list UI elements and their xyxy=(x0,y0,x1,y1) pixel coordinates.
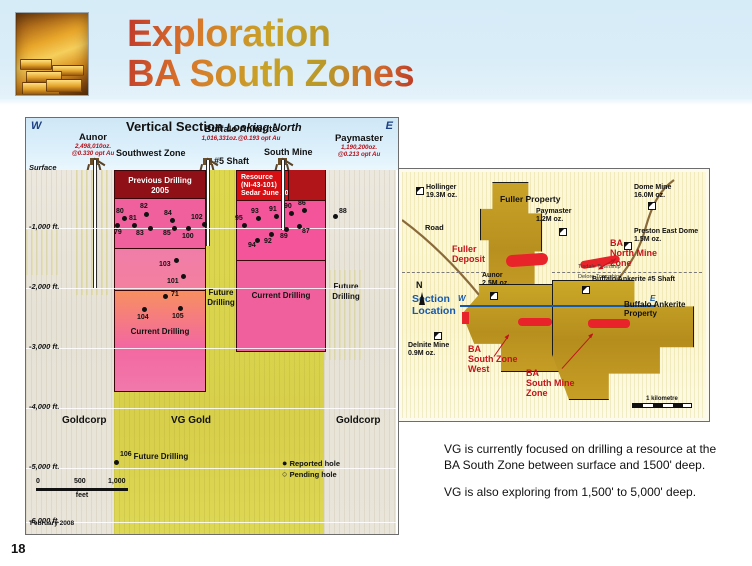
map-label-fuller-deposit: Fuller Deposit xyxy=(452,244,485,264)
drill-hole-dot xyxy=(284,227,289,232)
shaft-line-5shaft xyxy=(206,160,210,246)
map-scale-label: 1 kilometre xyxy=(632,396,692,402)
scale-tick: 1,000 xyxy=(108,478,126,485)
future-drilling-label-1: Future Drilling xyxy=(206,288,236,307)
mine-symbol-delnite xyxy=(434,332,442,340)
drill-hole-dot xyxy=(172,226,177,231)
drill-hole-label: 101 xyxy=(167,278,179,285)
drill-hole-label: 93 xyxy=(251,208,259,215)
section-west-marker-redzone xyxy=(462,312,469,324)
map-label-ba-north-mine-zone: BA North Mine Zone xyxy=(610,238,657,268)
mine-symbol-paymaster xyxy=(559,228,567,236)
drill-hole-dot xyxy=(302,208,307,213)
drill-hole-dot xyxy=(142,307,147,312)
drill-hole-dot xyxy=(132,223,137,228)
ba-south-mine-zone-redzone xyxy=(588,319,630,328)
map-label-fuller-property: Fuller Property xyxy=(500,194,560,204)
zone-label-south-mine: South Mine xyxy=(264,147,313,157)
map-label-buffalo-ankerite-property: Buffalo Ankerite Property xyxy=(624,300,706,319)
drill-hole-dot xyxy=(170,218,175,223)
block-label: Previous Drilling 2005 xyxy=(115,176,205,195)
future-drilling-label-3: Future Drilling xyxy=(126,452,196,462)
block-previous-drilling-2005: Previous Drilling 2005 xyxy=(114,170,206,200)
block-darkred-top-right xyxy=(288,170,325,200)
drill-hole-label: 82 xyxy=(140,203,148,210)
drill-hole-label: 102 xyxy=(191,214,203,221)
drill-hole-label: 106 xyxy=(120,451,132,458)
drill-hole-label: 104 xyxy=(137,314,149,321)
map-canvas: W E Tisdale Township Deloro Township Hol… xyxy=(402,172,706,418)
depth-label: -5,000 ft. xyxy=(29,462,59,471)
map-label-hollinger: Hollinger 19.3M oz. xyxy=(426,184,457,201)
depth-gridline xyxy=(26,522,398,523)
depth-gridline xyxy=(26,228,398,229)
drill-hole-dot xyxy=(274,214,279,219)
owner-label-goldcorp-east: Goldcorp xyxy=(336,415,380,426)
drill-hole-dot xyxy=(289,211,294,216)
drill-hole-label: 87 xyxy=(302,228,310,235)
ba-south-zone-west-redzone xyxy=(518,318,552,326)
north-arrow-icon: N xyxy=(416,280,425,305)
map-label-ba-south-zone-west: BA South Zone West xyxy=(468,344,518,374)
drill-hole-label: 100 xyxy=(182,233,194,240)
body-paragraph-2: VG is also exploring from 1,500' to 5,00… xyxy=(444,485,730,501)
mine-name: Buffalo Ankerite xyxy=(204,124,277,135)
mine-name: Aunor xyxy=(79,132,107,143)
drill-hole-dot xyxy=(202,222,207,227)
gold-bars-photo xyxy=(15,12,89,96)
section-date: February 2008 xyxy=(30,520,74,527)
plan-map-figure: W E Tisdale Township Deloro Township Hol… xyxy=(398,168,710,422)
depth-label: -2,000 ft. xyxy=(29,282,59,291)
future-drilling-label-2: Future Drilling xyxy=(324,282,368,301)
zone-label-southwest: Southwest Zone xyxy=(116,148,186,158)
drill-hole-label: 90 xyxy=(284,203,292,210)
owner-label-vg-gold: VG Gold xyxy=(171,415,211,426)
map-label-ba-south-mine-zone: BA South Mine Zone xyxy=(526,368,575,398)
drill-hole-dot xyxy=(148,226,153,231)
drill-hole-label: 86 xyxy=(298,200,306,207)
township-divider-line-west xyxy=(402,272,484,274)
mine-symbol-ba-5-shaft xyxy=(582,286,590,294)
section-scale-bar: 0 500 1,000 feet xyxy=(36,478,128,499)
scale-tick: 0 xyxy=(36,478,40,485)
legend-reported-hole: ● Reported hole xyxy=(282,458,340,469)
drill-hole-label: 92 xyxy=(264,238,272,245)
vertical-section-figure: W E Vertical Section Looking North Aunor… xyxy=(25,117,399,535)
drill-hole-label: 94 xyxy=(248,242,256,249)
drill-hole-dot xyxy=(163,294,168,299)
block-label: Current Drilling xyxy=(237,291,325,301)
body-paragraph-1: VG is currently focused on drilling a re… xyxy=(444,442,730,473)
map-label-paymaster: Paymaster 1.2M oz. xyxy=(536,208,571,225)
mine-name: Paymaster xyxy=(335,133,383,144)
mine-grade: 1,016,331oz.@0.193 opt Au xyxy=(176,135,306,142)
block-pink-mid-left xyxy=(114,248,206,292)
drill-hole-label: 91 xyxy=(269,206,277,213)
drill-hole-label: 81 xyxy=(129,215,137,222)
map-label-aunor: Aunor 2.5M oz. xyxy=(482,272,509,289)
drill-hole-dot xyxy=(269,232,274,237)
compass-east-label: E xyxy=(386,120,393,132)
block-current-drilling-right: Current Drilling xyxy=(236,260,326,352)
map-label-road: Road xyxy=(425,224,444,232)
owner-label-goldcorp-west: Goldcorp xyxy=(62,415,106,426)
drill-hole-dot xyxy=(186,226,191,231)
drill-hole-dot xyxy=(115,223,120,228)
drill-hole-dot xyxy=(114,460,119,465)
drill-hole-label: 88 xyxy=(339,208,347,215)
mine-label-buffalo-ankerite: Buffalo Ankerite 1,016,331oz.@0.193 opt … xyxy=(176,125,306,142)
map-label-dome-mine: Dome Mine 16.0M oz. xyxy=(634,184,671,201)
drill-hole-dot xyxy=(144,212,149,217)
drill-hole-dot xyxy=(333,214,338,219)
filled-dot-icon: ● xyxy=(282,458,287,468)
drill-hole-label: 105 xyxy=(172,313,184,320)
legend-pending-hole: ○ Pending hole xyxy=(282,469,340,480)
scale-units: feet xyxy=(36,492,128,499)
drill-hole-label: 83 xyxy=(136,230,144,237)
depth-gridline xyxy=(26,288,398,289)
page-number: 18 xyxy=(11,541,25,556)
mine-symbol-hollinger xyxy=(416,187,424,195)
map-label-delnite-mine: Delnite Mine 0.9M oz. xyxy=(408,342,449,359)
block-label: Current Drilling xyxy=(115,327,205,337)
drill-hole-label: 103 xyxy=(159,261,171,268)
open-circle-icon: ○ xyxy=(282,469,287,479)
depth-label: -3,000 ft. xyxy=(29,342,59,351)
mine-symbol-dome xyxy=(648,202,656,210)
depth-label: -4,000 ft. xyxy=(29,402,59,411)
depth-gridline xyxy=(26,348,398,349)
township-divider-line xyxy=(552,272,702,274)
body-text-block: VG is currently focused on drilling a re… xyxy=(444,442,730,513)
block-pink-upper-left xyxy=(114,198,206,250)
map-scale-bar: 1 kilometre xyxy=(632,396,692,408)
drill-hole-dot xyxy=(178,306,183,311)
drill-hole-dot xyxy=(181,274,186,279)
mine-label-paymaster: Paymaster 1,190,200oz. @0.213 opt Au xyxy=(326,134,392,158)
section-legend: ● Reported hole ○ Pending hole xyxy=(282,458,340,480)
mine-symbol-aunor xyxy=(490,292,498,300)
section-body: Previous Drilling 2005 Current Drilling … xyxy=(26,170,398,534)
shaft-line-south-mine xyxy=(281,160,285,230)
mine-grade: 1,190,200oz. @0.213 opt Au xyxy=(326,144,392,158)
drill-hole-dot xyxy=(122,216,127,221)
map-label-ba-5-shaft: Buffalo Ankerite #5 Shaft xyxy=(592,276,675,284)
scale-tick: 500 xyxy=(74,478,86,485)
west-yellow-streak-2 xyxy=(26,230,60,275)
depth-gridline xyxy=(26,408,398,409)
page-title: Exploration BA South Zones xyxy=(127,14,414,94)
drill-hole-dot xyxy=(256,216,261,221)
page-header: Exploration BA South Zones xyxy=(0,0,752,105)
drill-hole-label: 84 xyxy=(164,210,172,217)
depth-gridline xyxy=(26,468,398,469)
section-line-west-label: W xyxy=(458,294,466,303)
drill-hole-dot xyxy=(174,258,179,263)
drill-hole-label: 80 xyxy=(116,208,124,215)
block-current-drilling-left: Current Drilling xyxy=(114,290,206,392)
drill-hole-dot xyxy=(242,223,247,228)
depth-label: -1,000 ft. xyxy=(29,222,59,231)
drill-hole-label: 89 xyxy=(280,233,288,240)
shaft-line-aunor xyxy=(93,160,97,288)
drill-hole-label: 79 xyxy=(114,229,122,236)
drill-hole-label: 95 xyxy=(235,215,243,222)
drill-hole-label: 71 xyxy=(171,291,179,298)
drill-hole-label: 85 xyxy=(163,230,171,237)
zone-label-5-shaft: #5 Shaft xyxy=(214,156,249,166)
compass-west-label: W xyxy=(31,120,41,132)
